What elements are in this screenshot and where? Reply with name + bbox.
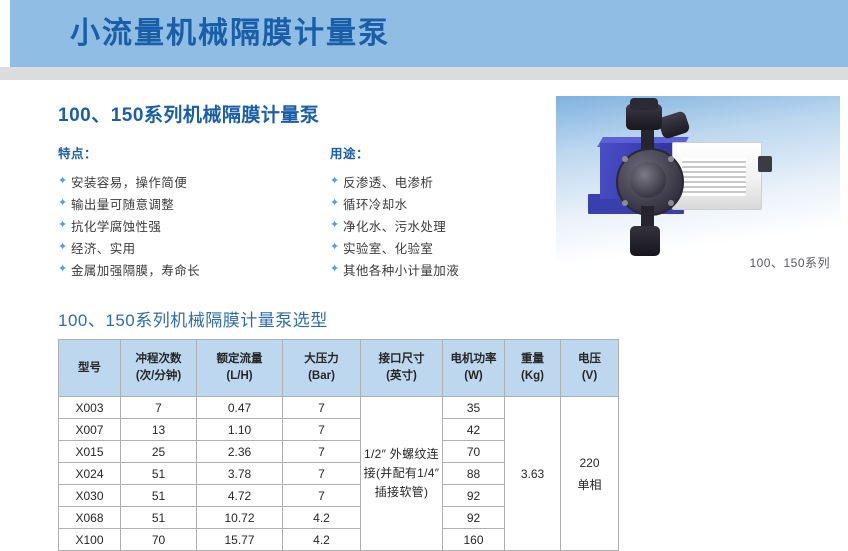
cell-port-size-merged: 1/2″ 外螺纹连接(并配有1/4″ 插接软管) <box>361 397 443 551</box>
diamond-bullet-icon: ✦ <box>58 242 71 253</box>
feature-item: ✦ 抗化学腐蚀性强 <box>58 214 328 236</box>
pump-bolt-shape <box>622 200 628 206</box>
table-row: X003 7 0.47 7 1/2″ 外螺纹连接(并配有1/4″ 插接软管) 3… <box>59 397 619 419</box>
features-column: 特点： ✦ 安装容易，操作简便 ✦ 输出量可随意调整 ✦ 抗化学腐蚀性强 ✦ 经… <box>58 143 328 280</box>
cell-strokes: 51 <box>121 507 197 529</box>
diamond-bullet-icon: ✦ <box>58 198 71 209</box>
col-header-power: 电机功率 (W) <box>443 340 505 397</box>
col-header-line2: (英寸) <box>363 368 440 385</box>
cell-strokes: 70 <box>121 529 197 551</box>
cell-pressure: 7 <box>283 463 361 485</box>
diamond-bullet-icon: ✦ <box>58 176 71 187</box>
banner-underline-strip <box>0 67 848 80</box>
feature-item: ✦ 经济、实用 <box>58 236 328 258</box>
col-header-pressure: 大压力 (Bar) <box>283 340 361 397</box>
page-banner: 小流量机械隔膜计量泵 <box>10 0 848 67</box>
col-header-flow: 额定流量 (L/H) <box>197 340 283 397</box>
cell-power: 92 <box>443 507 505 529</box>
feature-item-label: 抗化学腐蚀性强 <box>71 216 161 235</box>
cell-power: 35 <box>443 397 505 419</box>
cell-model: X003 <box>59 397 121 419</box>
diamond-bullet-icon: ✦ <box>330 176 343 187</box>
photo-caption: 100、150系列 <box>749 254 830 271</box>
usage-item: ✦ 其他各种小计量加液 <box>330 258 580 280</box>
page-title: 小流量机械隔膜计量泵 <box>70 15 390 53</box>
cell-strokes: 7 <box>121 397 197 419</box>
pump-bolt-shape <box>668 200 674 206</box>
features-heading: 特点： <box>58 143 328 162</box>
cell-pressure: 4.2 <box>283 507 361 529</box>
cell-model: X015 <box>59 441 121 463</box>
feature-item-label: 安装容易，操作简便 <box>71 172 187 191</box>
voltage-phase: 单相 <box>563 474 616 496</box>
pump-bolt-shape <box>668 156 674 162</box>
col-header-port-size: 接口尺寸 (英寸) <box>361 340 443 397</box>
col-header-line2: (Bar) <box>285 368 358 385</box>
cell-strokes: 51 <box>121 485 197 507</box>
col-header-line1: 重量 <box>521 353 544 365</box>
spec-table-title: 100、150系列机械隔膜计量泵选型 <box>58 306 328 331</box>
cell-model: X068 <box>59 507 121 529</box>
cell-power: 160 <box>443 529 505 551</box>
cell-pressure: 7 <box>283 485 361 507</box>
usage-heading: 用途： <box>330 143 580 162</box>
col-header-line1: 接口尺寸 <box>379 353 425 365</box>
col-header-line2: (L/H) <box>199 368 280 385</box>
col-header-line1: 大压力 <box>304 353 339 365</box>
voltage-value: 220 <box>563 452 616 474</box>
cell-pressure: 7 <box>283 397 361 419</box>
feature-item-label: 输出量可随意调整 <box>71 194 174 213</box>
spec-table-header-row: 型号 冲程次数 (次/分钟) 额定流量 (L/H) 大压力 (Bar) 接口尺寸… <box>59 340 619 397</box>
cell-pressure: 7 <box>283 419 361 441</box>
col-header-line1: 型号 <box>78 362 101 374</box>
feature-item-label: 经济、实用 <box>71 238 136 257</box>
product-photo: 100、150系列 <box>556 96 840 276</box>
col-header-line2: (V) <box>563 368 616 385</box>
col-header-line1: 电机功率 <box>451 353 497 365</box>
diamond-bullet-icon: ✦ <box>58 220 71 231</box>
pump-head-center-shape <box>630 162 666 198</box>
feature-item: ✦ 金属加强隔膜，寿命长 <box>58 258 328 280</box>
pump-motor-fins-shape <box>682 158 746 196</box>
cell-flow: 4.72 <box>197 485 283 507</box>
spec-table: 型号 冲程次数 (次/分钟) 额定流量 (L/H) 大压力 (Bar) 接口尺寸… <box>58 339 619 551</box>
cell-model: X024 <box>59 463 121 485</box>
cell-model: X007 <box>59 419 121 441</box>
feature-item: ✦ 安装容易，操作简便 <box>58 170 328 192</box>
col-header-line2: (W) <box>445 368 502 385</box>
section-title: 100、150系列机械隔膜计量泵 <box>58 100 319 127</box>
usage-item: ✦ 实验室、化验室 <box>330 236 580 258</box>
usage-item: ✦ 循环冷却水 <box>330 192 580 214</box>
cell-flow: 10.72 <box>197 507 283 529</box>
cell-power: 92 <box>443 485 505 507</box>
diamond-bullet-icon: ✦ <box>330 198 343 209</box>
cell-model: X030 <box>59 485 121 507</box>
cell-pressure: 7 <box>283 441 361 463</box>
cell-voltage-merged: 220 单相 <box>561 397 619 551</box>
diamond-bullet-icon: ✦ <box>330 264 343 275</box>
usage-item-label: 循环冷却水 <box>343 194 408 213</box>
cell-strokes: 13 <box>121 419 197 441</box>
col-header-strokes: 冲程次数 (次/分钟) <box>121 340 197 397</box>
diamond-bullet-icon: ✦ <box>330 220 343 231</box>
cell-flow: 2.36 <box>197 441 283 463</box>
col-header-voltage: 电压 (V) <box>561 340 619 397</box>
pump-bottom-valve-shape <box>630 226 660 256</box>
col-header-line1: 冲程次数 <box>136 353 182 365</box>
usage-item-label: 其他各种小计量加液 <box>343 260 459 279</box>
usage-column: 用途： ✦ 反渗透、电渗析 ✦ 循环冷却水 ✦ 净化水、污水处理 ✦ 实验室、化… <box>330 143 580 280</box>
pump-bolt-shape <box>622 156 628 162</box>
cell-flow: 0.47 <box>197 397 283 419</box>
usage-item: ✦ 反渗透、电渗析 <box>330 170 580 192</box>
cell-strokes: 51 <box>121 463 197 485</box>
cell-weight-merged: 3.63 <box>505 397 561 551</box>
usage-item-label: 净化水、污水处理 <box>343 216 446 235</box>
pump-side-valve-shape <box>657 110 690 140</box>
col-header-weight: 重量 (Kg) <box>505 340 561 397</box>
cell-flow: 1.10 <box>197 419 283 441</box>
cell-pressure: 4.2 <box>283 529 361 551</box>
cell-flow: 15.77 <box>197 529 283 551</box>
usage-item-label: 反渗透、电渗析 <box>343 172 433 191</box>
diamond-bullet-icon: ✦ <box>330 242 343 253</box>
col-header-line2: (Kg) <box>507 368 558 385</box>
col-header-model: 型号 <box>59 340 121 397</box>
cell-power: 42 <box>443 419 505 441</box>
feature-item: ✦ 输出量可随意调整 <box>58 192 328 214</box>
cell-model: X100 <box>59 529 121 551</box>
col-header-line1: 额定流量 <box>217 353 263 365</box>
usage-item-label: 实验室、化验室 <box>343 238 433 257</box>
diamond-bullet-icon: ✦ <box>58 264 71 275</box>
cell-flow: 3.78 <box>197 463 283 485</box>
feature-item-label: 金属加强隔膜，寿命长 <box>71 260 200 279</box>
cell-strokes: 25 <box>121 441 197 463</box>
cell-power: 70 <box>443 441 505 463</box>
col-header-line2: (次/分钟) <box>123 368 194 385</box>
cell-power: 88 <box>443 463 505 485</box>
col-header-line1: 电压 <box>578 353 601 365</box>
pump-top-knob-shape <box>630 98 658 110</box>
usage-item: ✦ 净化水、污水处理 <box>330 214 580 236</box>
pump-motor-cap-shape <box>758 156 772 172</box>
